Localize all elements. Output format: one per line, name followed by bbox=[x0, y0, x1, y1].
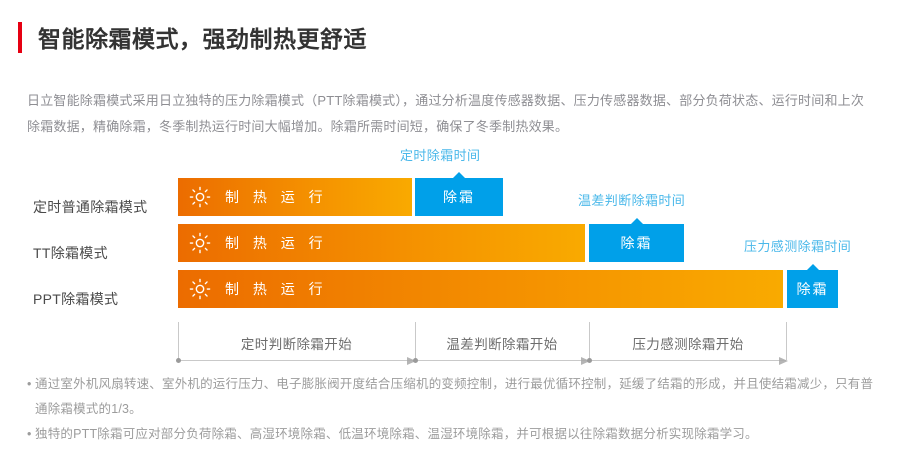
page-header: 智能除霜模式，强劲制热更舒适 bbox=[18, 20, 367, 54]
axis-line-1 bbox=[415, 360, 589, 361]
sun-icon bbox=[189, 232, 211, 254]
chart-callout-1: 温差判断除霜时间 bbox=[578, 190, 685, 209]
axis-segment-label-1: 温差判断除霜开始 bbox=[415, 333, 589, 353]
intro-paragraph: 日立智能除霜模式采用日立独特的压力除霜模式（PTT除霜模式），通过分析温度传感器… bbox=[27, 88, 875, 140]
footnote-text: 通过室外机风扇转速、室外机的运行压力、电子膨胀阀开度结合压缩机的变频控制，进行最… bbox=[35, 377, 873, 416]
axis-segment-label-0: 定时判断除霜开始 bbox=[178, 333, 415, 353]
chart-timeline-axis: 定时判断除霜开始 温差判断除霜开始 压力感测除霜开始 bbox=[178, 322, 787, 365]
callout-pointer-icon-0 bbox=[453, 172, 465, 178]
defrost-segment-label-0: 除霜 bbox=[443, 187, 475, 207]
axis-dot-1 bbox=[413, 358, 418, 363]
axis-tick-end bbox=[786, 322, 787, 361]
axis-segment-label-2: 压力感测除霜开始 bbox=[589, 333, 787, 353]
footnote-item: • 独特的PTT除霜可应对部分负荷除霜、高湿环境除霜、低温环境除霜、温湿环境除霜… bbox=[27, 422, 877, 447]
heat-segment-2: 制 热 运 行 bbox=[178, 270, 783, 308]
axis-line-0 bbox=[178, 360, 415, 361]
chart-bar-row-2: 制 热 运 行 除霜 bbox=[0, 270, 900, 308]
chart-callout-0: 定时除霜时间 bbox=[400, 145, 480, 164]
axis-segment-2: 压力感测除霜开始 bbox=[589, 322, 787, 365]
defrost-segment-1: 除霜 bbox=[589, 224, 684, 262]
sun-icon bbox=[189, 278, 211, 300]
defrost-segment-label-1: 除霜 bbox=[621, 233, 653, 253]
sun-icon bbox=[189, 186, 211, 208]
heat-segment-1: 制 热 运 行 bbox=[178, 224, 585, 262]
axis-line-2 bbox=[589, 360, 787, 361]
bullet-icon: • bbox=[27, 422, 32, 447]
axis-segment-1: 温差判断除霜开始 bbox=[415, 322, 589, 365]
heat-segment-label-2: 制 热 运 行 bbox=[225, 279, 328, 299]
defrost-mode-comparison-chart: 定时普通除霜模式 定时除霜时间 制 热 运 行 除霜 bbox=[0, 140, 900, 365]
page-title: 智能除霜模式，强劲制热更舒适 bbox=[38, 20, 367, 54]
bullet-icon: • bbox=[27, 372, 32, 397]
axis-segment-0: 定时判断除霜开始 bbox=[178, 322, 415, 365]
callout-pointer-icon-1 bbox=[631, 218, 643, 224]
defrost-segment-0: 除霜 bbox=[415, 178, 503, 216]
defrost-segment-2: 除霜 bbox=[787, 270, 838, 308]
chart-bar-row-0: 制 热 运 行 除霜 bbox=[0, 178, 900, 216]
callout-pointer-icon-2 bbox=[807, 264, 819, 270]
footnote-list: • 通过室外机风扇转速、室外机的运行压力、电子膨胀阀开度结合压缩机的变频控制，进… bbox=[27, 372, 877, 447]
footnote-text: 独特的PTT除霜可应对部分负荷除霜、高湿环境除霜、低温环境除霜、温湿环境除霜，并… bbox=[35, 427, 758, 441]
axis-dot-2 bbox=[587, 358, 592, 363]
defrost-segment-label-2: 除霜 bbox=[797, 279, 829, 299]
heading-accent-bar bbox=[18, 22, 22, 53]
heat-segment-label-0: 制 热 运 行 bbox=[225, 187, 328, 207]
axis-dot-0 bbox=[176, 358, 181, 363]
heat-segment-0: 制 热 运 行 bbox=[178, 178, 412, 216]
heat-segment-label-1: 制 热 运 行 bbox=[225, 233, 328, 253]
footnote-item: • 通过室外机风扇转速、室外机的运行压力、电子膨胀阀开度结合压缩机的变频控制，进… bbox=[27, 372, 877, 422]
chart-callout-2: 压力感测除霜时间 bbox=[744, 236, 851, 255]
